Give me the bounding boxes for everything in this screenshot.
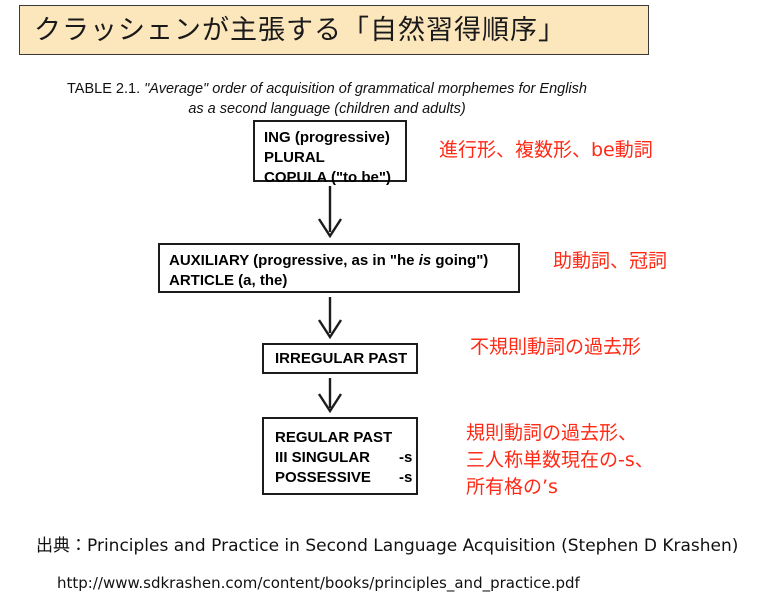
flow-box-4-line-2: III SINGULAR-s bbox=[275, 448, 416, 468]
flow-box-4-line-3: POSSESSIVE-s bbox=[275, 468, 416, 488]
source-citation: 出典：Principles and Practice in Second Lan… bbox=[36, 531, 738, 556]
annotation-stage-3: 不規則動詞の過去形 bbox=[470, 334, 641, 361]
flow-box-3-line-1: IRREGULAR PAST bbox=[275, 349, 416, 369]
flow-arrow-down-icon-1 bbox=[313, 186, 347, 239]
slide-title-banner: クラッシェンが主張する「自然習得順序」 bbox=[19, 5, 649, 55]
flow-box-2-line-2: ARTICLE (a, the) bbox=[169, 271, 518, 291]
source-url[interactable]: http://www.sdkrashen.com/content/books/p… bbox=[57, 574, 580, 592]
flow-box-4-line-2-text: III SINGULAR bbox=[275, 449, 370, 466]
flow-box-stage-4: REGULAR PAST III SINGULAR-s POSSESSIVE-s bbox=[262, 417, 418, 495]
flow-box-4-line-1: REGULAR PAST bbox=[275, 428, 416, 448]
flow-box-stage-3: IRREGULAR PAST bbox=[262, 343, 418, 374]
flow-box-2-line-1-before: AUXILIARY (progressive, as in "he bbox=[169, 252, 419, 269]
flow-box-4-line-2-suffix: -s bbox=[399, 448, 412, 468]
flow-box-2-line-1: AUXILIARY (progressive, as in "he is goi… bbox=[169, 251, 518, 271]
flow-arrow-down-icon-2 bbox=[313, 297, 347, 339]
annotation-stage-4: 規則動詞の過去形、 三人称単数現在の-s、 所有格の’s bbox=[466, 420, 654, 501]
flow-box-1-line-1: ING (progressive) bbox=[264, 128, 405, 148]
annotation-stage-2: 助動詞、冠詞 bbox=[553, 248, 667, 275]
flow-box-4-line-3-text: POSSESSIVE bbox=[275, 469, 371, 486]
table-caption-label: TABLE 2.1. bbox=[67, 81, 140, 97]
table-caption-line-2: as a second language (children and adult… bbox=[22, 100, 632, 120]
flow-box-stage-1: ING (progressive) PLURAL COPULA ("to be"… bbox=[253, 120, 407, 182]
flow-box-2-line-1-after: going") bbox=[431, 252, 488, 269]
table-caption-line-1: "Average" order of acquisition of gramma… bbox=[144, 81, 587, 97]
table-caption: TABLE 2.1. "Average" order of acquisitio… bbox=[22, 80, 632, 119]
flow-box-4-line-3-suffix: -s bbox=[399, 468, 412, 488]
annotation-stage-1: 進行形、複数形、be動詞 bbox=[439, 137, 653, 164]
flow-box-2-line-1-italic: is bbox=[419, 252, 432, 269]
flow-box-1-line-2: PLURAL bbox=[264, 148, 405, 168]
flow-box-stage-2: AUXILIARY (progressive, as in "he is goi… bbox=[158, 243, 520, 293]
flow-arrow-down-icon-3 bbox=[313, 378, 347, 413]
page-title: クラッシェンが主張する「自然習得順序」 bbox=[34, 17, 566, 44]
